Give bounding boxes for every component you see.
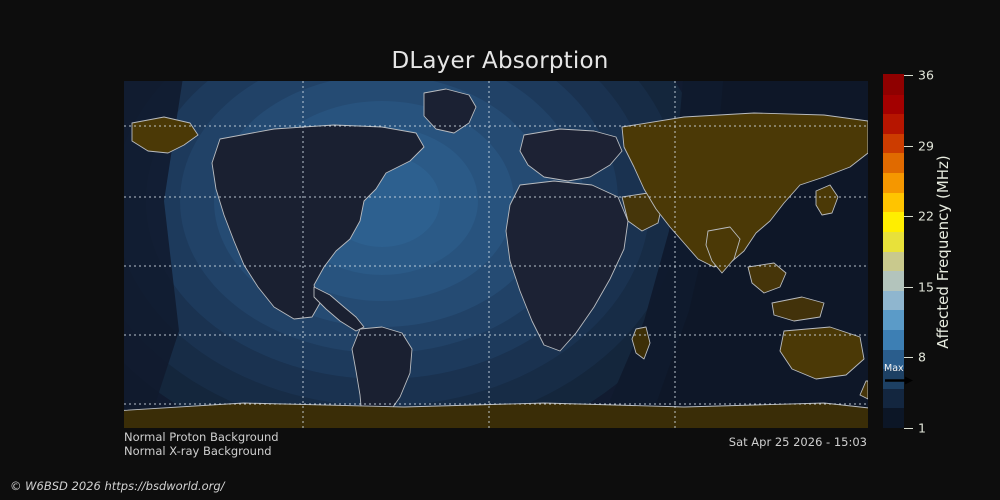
colorbar-segment (883, 388, 904, 408)
colorbar-axis-label-text: Affected Frequency (MHz) (934, 155, 952, 349)
colorbar-tick-mark (904, 75, 913, 76)
colorbar-segment (883, 329, 904, 349)
xray-status: Normal X-ray Background (124, 444, 272, 458)
colorbar-segment (883, 211, 904, 231)
colorbar-segment (883, 231, 904, 251)
colorbar-segment (883, 408, 904, 428)
copyright-credit: © W6BSD 2026 https://bsdworld.org/ (10, 479, 225, 493)
colorbar-segment (883, 270, 904, 290)
map-canvas (124, 81, 868, 428)
proton-status: Normal Proton Background (124, 430, 279, 444)
world-map[interactable] (124, 81, 868, 428)
colorbar-segment (883, 153, 904, 173)
colorbar-segment (883, 309, 904, 329)
colorbar-segment (883, 172, 904, 192)
colorbar-tick-label: 8 (918, 350, 926, 365)
max-marker-label: Max (884, 364, 904, 374)
timestamp: Sat Apr 25 2026 - 15:03 (729, 435, 867, 449)
colorbar-segment (883, 74, 904, 94)
colorbar-segment (883, 113, 904, 133)
colorbar-segment (883, 133, 904, 153)
colorbar-tick-mark (904, 146, 913, 147)
colorbar-segment (883, 192, 904, 212)
max-marker: Max (884, 364, 922, 388)
arrow-right-icon (885, 376, 913, 385)
colorbar-tick-mark (904, 357, 913, 358)
colorbar-segment (883, 251, 904, 271)
colorbar-segment (883, 290, 904, 310)
page-title: DLayer Absorption (0, 48, 1000, 74)
colorbar-axis-label: Affected Frequency (MHz) (930, 75, 956, 428)
colorbar-tick-mark (904, 216, 913, 217)
colorbar-tick-label: 1 (918, 421, 926, 436)
colorbar-tick-mark (904, 428, 913, 429)
colorbar-tick-mark (904, 287, 913, 288)
app-root: DLayer Absorption (0, 0, 1000, 500)
colorbar-segment (883, 94, 904, 114)
land-antarctica (124, 403, 868, 428)
